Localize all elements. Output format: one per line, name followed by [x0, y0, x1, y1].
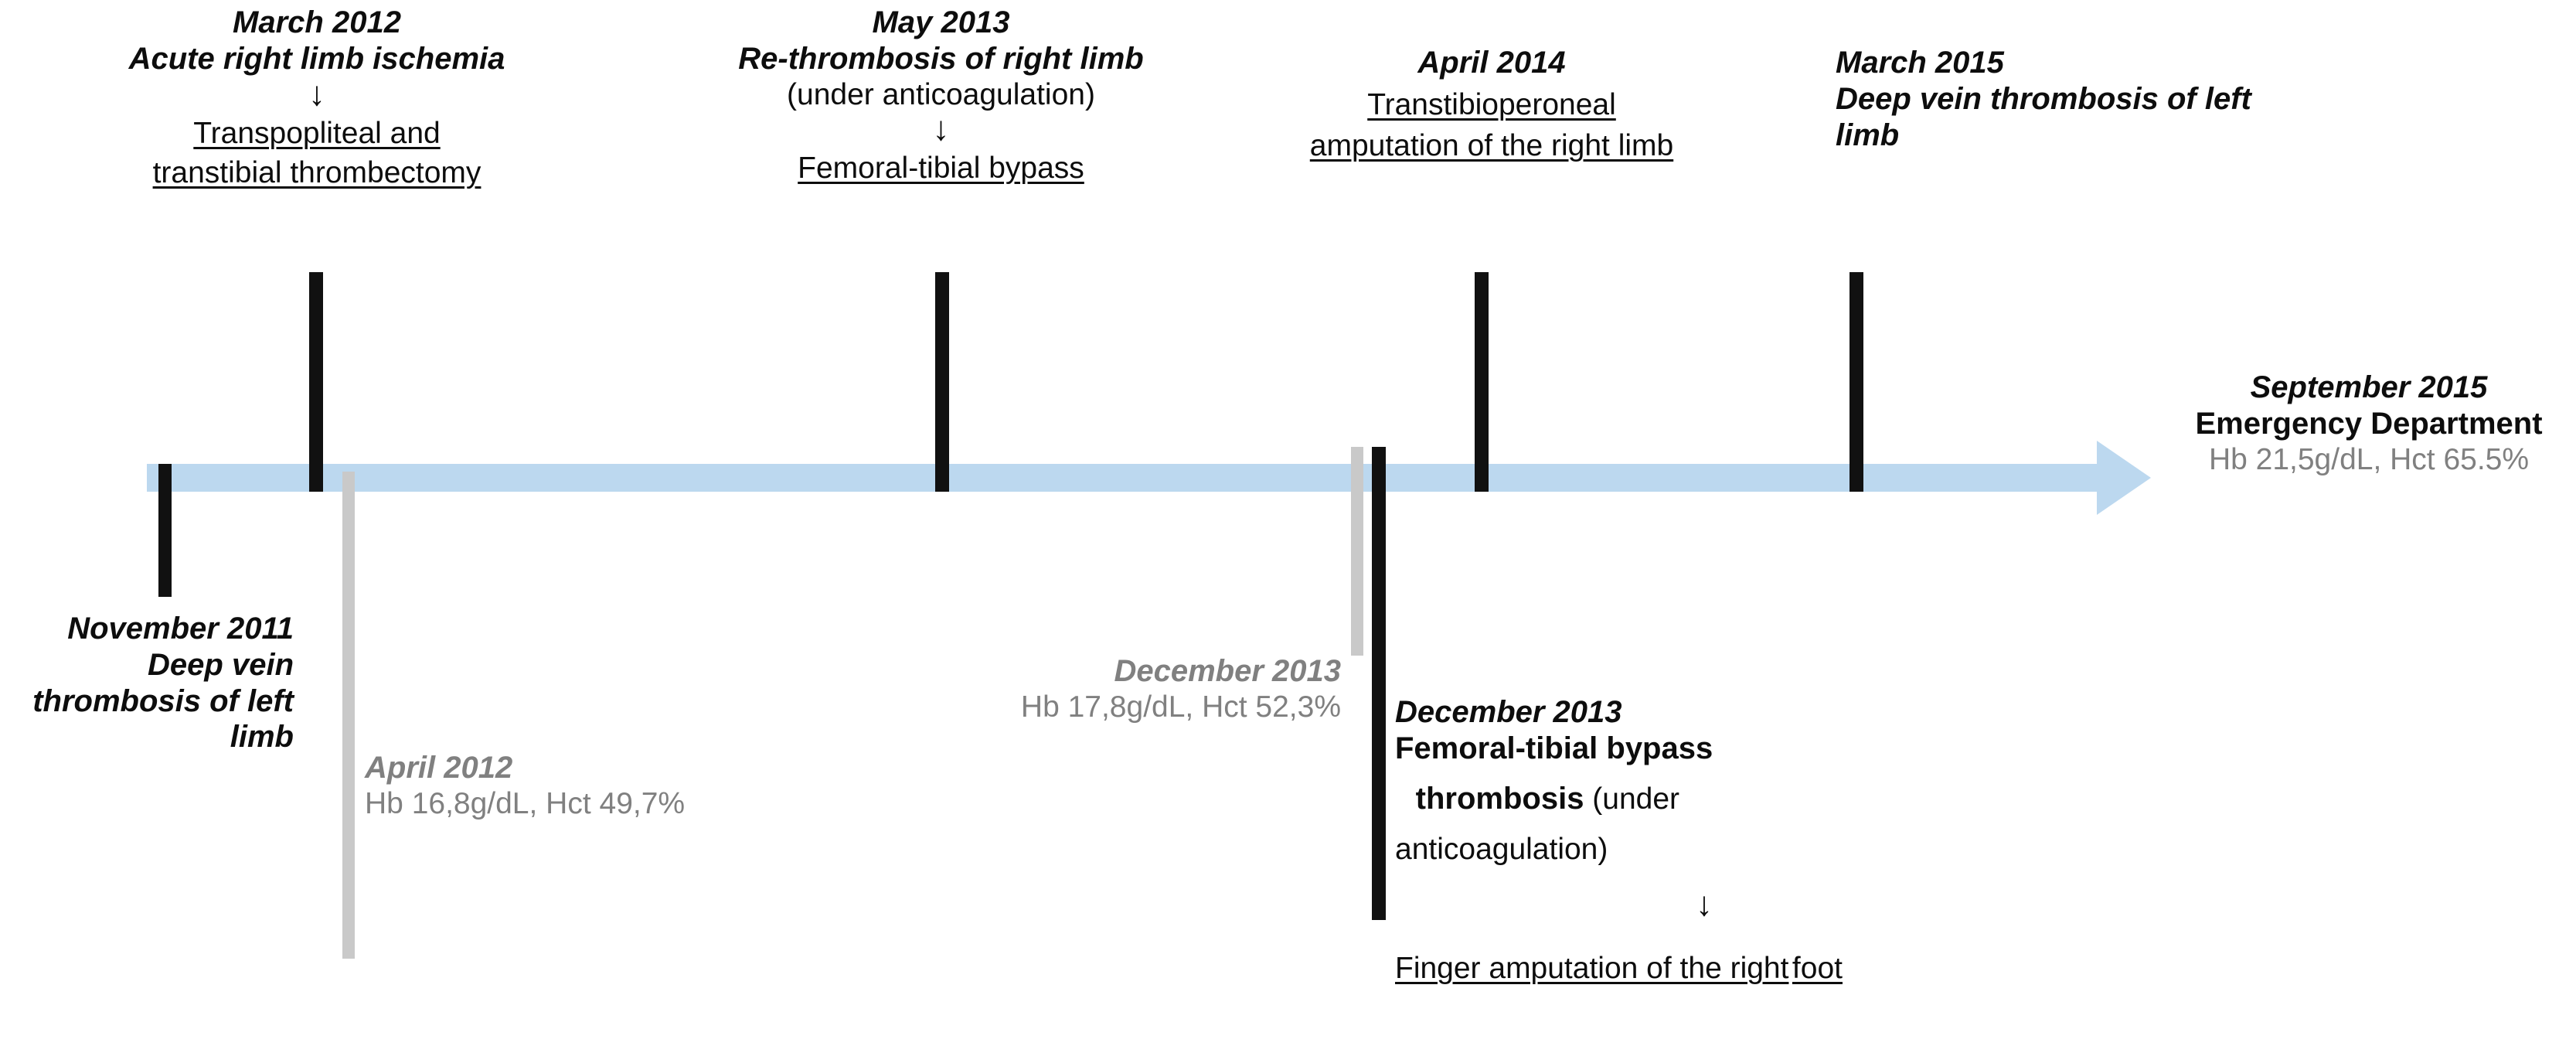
- event-november-2011: November 2011 Deep vein thrombosis of le…: [0, 611, 294, 755]
- event-september-2015: September 2015 Emergency Department Hb 2…: [2160, 370, 2576, 477]
- event-december-2013: December 2013 Femoral-tibial bypass thro…: [1395, 694, 1797, 867]
- event-diagnosis: Acute right limb ischemia: [93, 41, 541, 77]
- labs-date: April 2012: [365, 750, 859, 786]
- event-procedure-line2: foot: [1792, 951, 1843, 987]
- event-date: April 2014: [1252, 45, 1731, 81]
- event-date: March 2012: [93, 5, 541, 41]
- event-date: November 2011: [0, 611, 294, 647]
- event-procedure-line1: Transpopliteal and: [193, 116, 440, 152]
- labs-values: Hb 17,8g/dL, Hct 52,3%: [835, 690, 1341, 725]
- event-procedure-line2: amputation of the right limb: [1310, 128, 1673, 164]
- event-diagnosis: Re-thrombosis of right limb: [699, 41, 1183, 77]
- event-labs: Hb 21,5g/dL, Hct 65.5%: [2160, 442, 2576, 478]
- timeline-canvas: March 2012 Acute right limb ischemia ↓ T…: [0, 0, 2576, 1053]
- event-diagnosis-line2: limb: [1836, 118, 2330, 154]
- tick-may-2013: [935, 272, 949, 492]
- event-diagnosis: Deep vein thrombosis of left limb: [0, 647, 294, 755]
- event-date: September 2015: [2160, 370, 2576, 406]
- event-april-2014: April 2014 Transtibioperoneal amputation…: [1252, 45, 1731, 164]
- tick-march-2015: [1849, 272, 1863, 492]
- event-may-2013: May 2013 Re-thrombosis of right limb (un…: [699, 5, 1183, 186]
- timeline-axis-bar: [147, 464, 2098, 492]
- event-march-2012: March 2012 Acute right limb ischemia ↓ T…: [93, 5, 541, 191]
- event-december-2013-procedure: ↓: [1395, 888, 2013, 922]
- labs-december-2013: December 2013 Hb 17,8g/dL, Hct 52,3%: [835, 653, 1341, 724]
- event-december-2013-procedure-text: Finger amputation of the right foot: [1395, 945, 2013, 987]
- event-march-2015: March 2015 Deep vein thrombosis of left …: [1836, 45, 2330, 153]
- labs-april-2012: April 2012 Hb 16,8g/dL, Hct 49,7%: [365, 750, 859, 821]
- tick-november-2011: [158, 464, 172, 597]
- tick-december-2013-event: [1372, 447, 1386, 920]
- tick-march-2012: [309, 272, 323, 492]
- timeline-arrowhead-icon: [2097, 441, 2151, 515]
- event-procedure-line1: Finger amputation of the right: [1395, 951, 1788, 987]
- event-procedure: Femoral-tibial bypass: [798, 151, 1084, 186]
- event-date: March 2015: [1836, 45, 2330, 81]
- down-arrow-icon: ↓: [93, 77, 541, 111]
- down-arrow-icon: ↓: [699, 112, 1183, 146]
- event-note: (under anticoagulation): [699, 77, 1183, 113]
- event-diagnosis-line2: thrombosis: [1416, 782, 1584, 816]
- event-procedure-line1: Transtibioperoneal: [1367, 87, 1616, 123]
- tick-december-2013-labs: [1351, 447, 1363, 656]
- event-procedure-line2: transtibial thrombectomy: [153, 155, 482, 191]
- event-note-part2: anticoagulation): [1395, 832, 1797, 867]
- event-note-part1: (under: [1584, 782, 1679, 816]
- labs-values: Hb 16,8g/dL, Hct 49,7%: [365, 786, 859, 822]
- down-arrow-icon: ↓: [1395, 888, 2013, 922]
- tick-april-2014: [1475, 272, 1489, 492]
- labs-date: December 2013: [835, 653, 1341, 690]
- event-diagnosis-line1: Femoral-tibial bypass: [1395, 731, 1797, 767]
- event-date: December 2013: [1395, 694, 1797, 731]
- event-diagnosis-line1: Deep vein thrombosis of left: [1836, 81, 2330, 118]
- event-date: May 2013: [699, 5, 1183, 41]
- tick-april-2012: [342, 472, 355, 959]
- event-location: Emergency Department: [2160, 406, 2576, 442]
